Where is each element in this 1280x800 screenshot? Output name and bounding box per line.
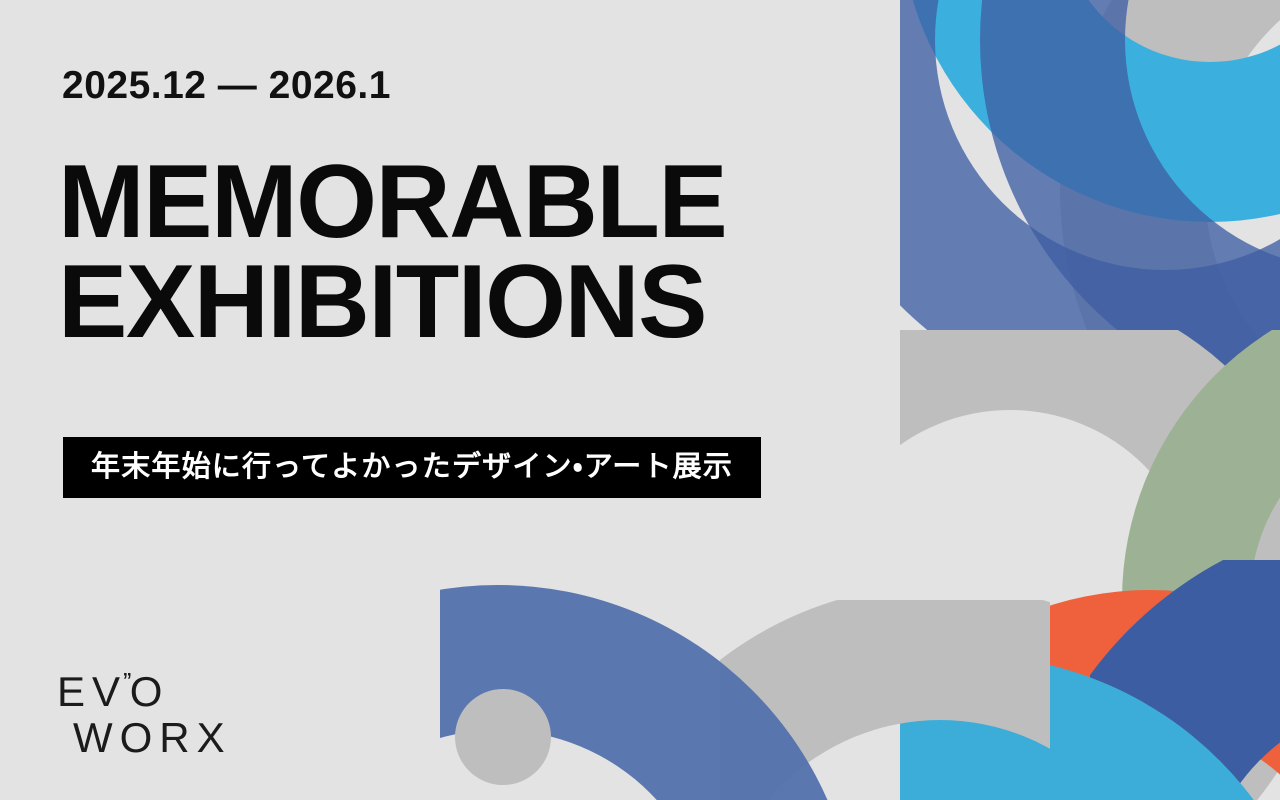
logo-line-1: EVˮO bbox=[57, 660, 277, 715]
subtitle-text: 年末年始に行ってよかったデザイン・アート展示 bbox=[91, 453, 733, 482]
logo-text-ev: EV bbox=[57, 668, 127, 715]
logo-umlaut-mark: ˮ bbox=[123, 668, 132, 698]
arc-blue-top-right-of-cluster bbox=[900, 0, 1280, 480]
arc-gray-mid-right bbox=[900, 330, 1280, 800]
arc-orange-bottom-right bbox=[900, 560, 1280, 800]
headline-line-1: MEMORABLE bbox=[58, 152, 726, 252]
arc-cyan-bottom bbox=[900, 600, 1280, 800]
arc-blue-top-left-of-cluster bbox=[900, 0, 1280, 480]
text-content: 2025.12 — 2026.1 MEMORABLE EXHIBITIONS 年… bbox=[0, 0, 920, 800]
arc-gray-upper-right bbox=[900, 0, 1280, 620]
page-title: MEMORABLE EXHIBITIONS bbox=[58, 152, 726, 353]
logo-evoworx: EVˮO WORX bbox=[57, 660, 277, 756]
arc-cyan-top-right bbox=[900, 0, 1280, 330]
date-range: 2025.12 — 2026.1 bbox=[62, 64, 391, 108]
subtitle-bar: 年末年始に行ってよかったデザイン・アート展示 bbox=[63, 437, 761, 498]
exhibition-banner: 2025.12 — 2026.1 MEMORABLE EXHIBITIONS 年… bbox=[0, 0, 1280, 800]
logo-text-o: O bbox=[130, 668, 170, 715]
logo-line-2: WORX bbox=[57, 715, 277, 761]
headline-line-2: EXHIBITIONS bbox=[58, 252, 726, 352]
arc-green-mid-right bbox=[1050, 330, 1280, 660]
arc-navy-bottom-right bbox=[1090, 560, 1280, 800]
